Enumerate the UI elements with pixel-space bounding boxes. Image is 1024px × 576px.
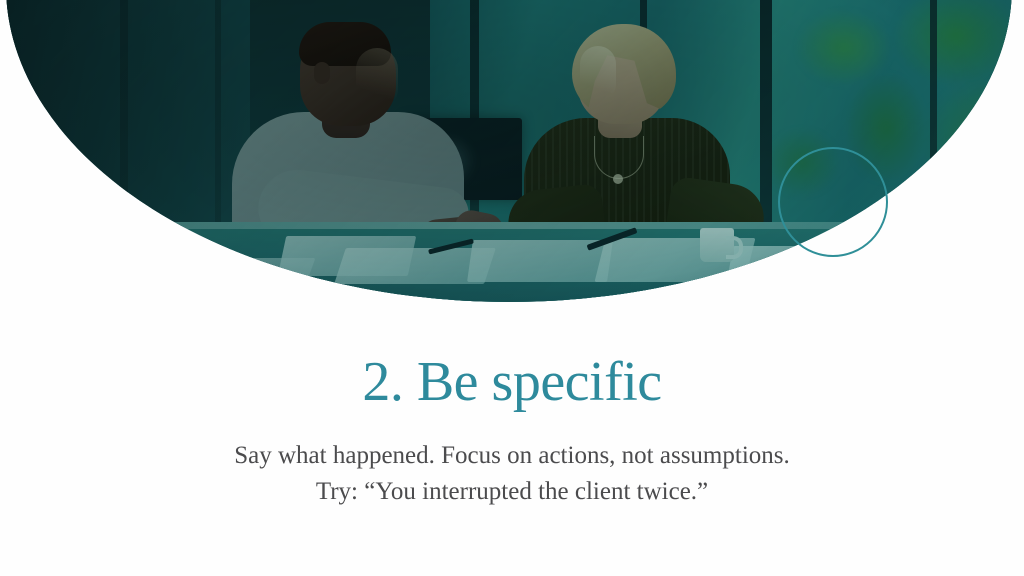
page-title: 2. Be specific (0, 352, 1024, 412)
hero-photo (6, 0, 1012, 302)
hero-image-region (0, 0, 1024, 310)
office-scene (6, 0, 1012, 302)
subtitle-line-1: Say what happened. Focus on actions, not… (0, 438, 1024, 474)
slide: 2. Be specific Say what happened. Focus … (0, 0, 1024, 576)
slide-text-block: 2. Be specific Say what happened. Focus … (0, 352, 1024, 509)
vignette-overlay (6, 0, 1012, 302)
subtitle-line-2: Try: “You interrupted the client twice.” (0, 474, 1024, 510)
decorative-circle-outline (778, 147, 888, 257)
hero-ellipse-mask (6, 0, 1012, 302)
